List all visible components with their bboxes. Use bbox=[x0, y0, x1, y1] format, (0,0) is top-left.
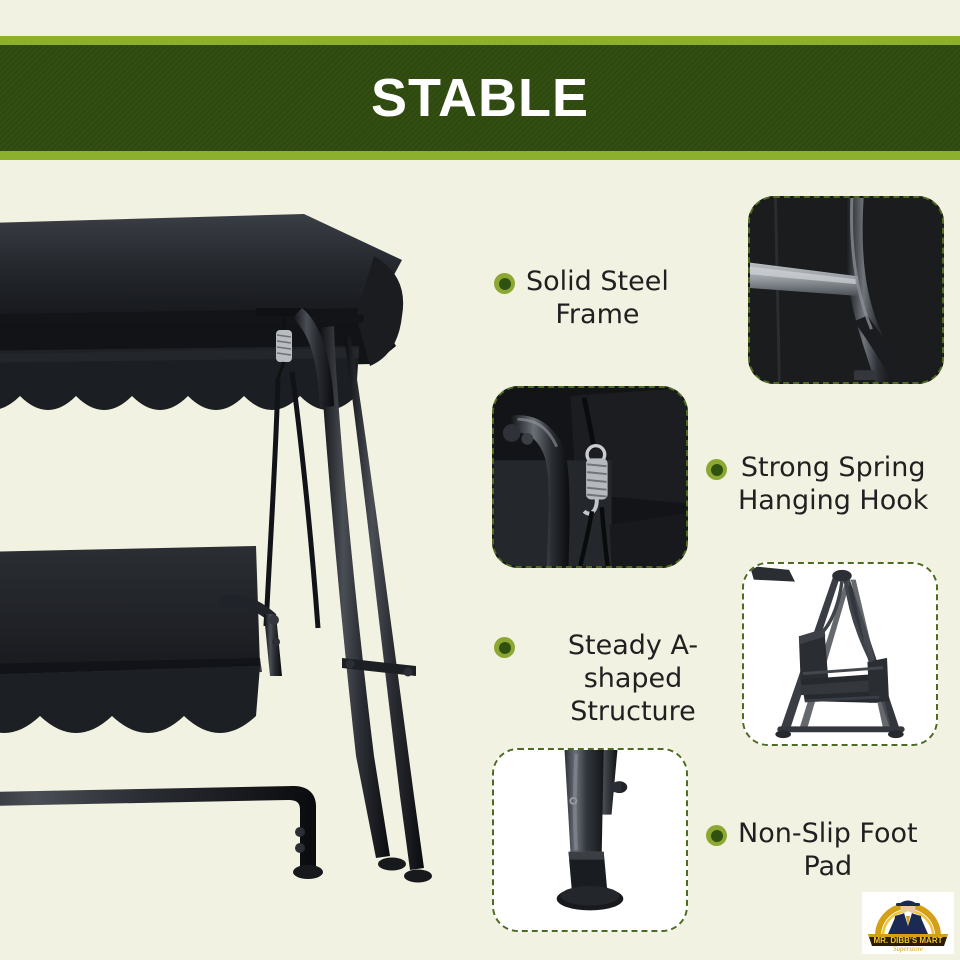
detail-photo-a-frame-structure bbox=[742, 562, 938, 746]
feature-text-steady-a-shaped-structure: Steady A-shaped Structure bbox=[494, 630, 740, 729]
feature-text-solid-steel-frame: Solid Steel Frame bbox=[494, 266, 719, 332]
feature-label: Strong Spring Hanging Hook bbox=[738, 452, 928, 518]
bullet-icon bbox=[494, 273, 515, 294]
infographic-canvas: STABLE bbox=[0, 0, 960, 960]
detail-photo-non-slip-foot-pad bbox=[492, 748, 688, 932]
hero-product-photo bbox=[0, 196, 464, 896]
feature-label: Steady A-shaped Structure bbox=[526, 630, 740, 729]
brand-logo: MR. DIBB'S MART Superstore bbox=[862, 892, 954, 954]
feature-label: Non-Slip Foot Pad bbox=[738, 818, 918, 884]
logo-line2: Superstore bbox=[893, 945, 923, 953]
feature-label: Solid Steel Frame bbox=[526, 266, 669, 332]
feature-text-non-slip-foot-pad: Non-Slip Foot Pad bbox=[706, 818, 938, 884]
header-banner: STABLE bbox=[0, 36, 960, 160]
bullet-icon bbox=[494, 637, 515, 658]
detail-photo-steel-frame-joint bbox=[748, 196, 944, 384]
bullet-icon bbox=[706, 825, 727, 846]
detail-photo-spring-hanging-hook bbox=[492, 386, 688, 568]
page-title: STABLE bbox=[371, 71, 589, 125]
logo-line1: MR. DIBB'S MART bbox=[873, 936, 942, 945]
feature-text-strong-spring-hanging-hook: Strong Spring Hanging Hook bbox=[706, 452, 942, 518]
bullet-icon bbox=[706, 459, 727, 480]
